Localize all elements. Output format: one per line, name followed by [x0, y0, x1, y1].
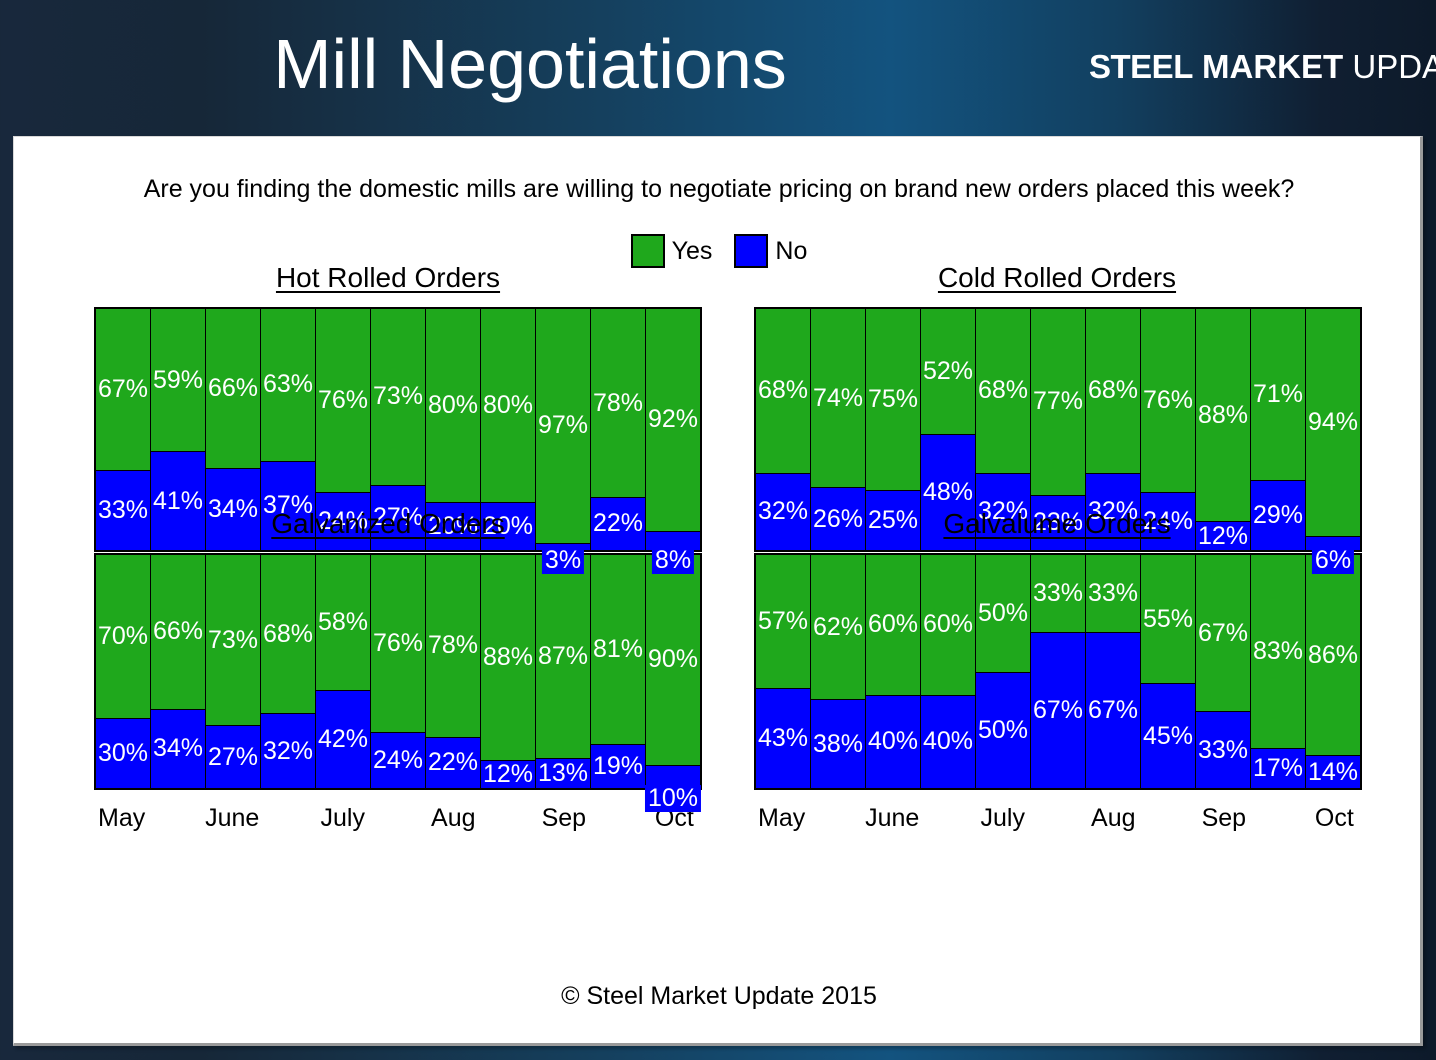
bar-segment-yes: 60% [921, 555, 975, 695]
bar-segment-no: 45% [1141, 683, 1195, 788]
bar-value-yes: 80% [483, 393, 533, 418]
bar-segment-yes: 78% [591, 309, 645, 497]
bar-segment-yes: 94% [1306, 309, 1360, 536]
stacked-bar: 60%40% [865, 555, 921, 788]
chart-title-galvalume: Galvalume Orders [732, 505, 1382, 543]
bar-value-yes: 71% [1253, 382, 1303, 407]
stacked-bar: 62%38% [810, 555, 866, 788]
bar-segment-yes: 77% [1031, 309, 1085, 495]
bar-segment-yes: 88% [1196, 309, 1250, 521]
bar-segment-yes: 87% [536, 555, 590, 758]
stacked-bar: 87%13% [535, 555, 591, 788]
bar-value-no: 34% [153, 736, 203, 761]
stacked-bar: 33%67% [1085, 555, 1141, 788]
bar-segment-yes: 80% [426, 309, 480, 502]
bar-value-no: 27% [208, 745, 258, 770]
chart-title-cold-rolled: Cold Rolled Orders [732, 259, 1382, 297]
stacked-bar: 50%50% [975, 555, 1031, 788]
bar-segment-yes: 66% [206, 309, 260, 468]
bar-value-yes: 76% [1143, 388, 1193, 413]
x-axis-tick-label: July [320, 802, 364, 834]
bar-value-yes: 77% [1033, 389, 1083, 414]
bar-value-no: 13% [538, 761, 588, 786]
logo-word-update: UPDATE [1352, 48, 1436, 85]
bar-value-yes: 83% [1253, 639, 1303, 664]
bar-value-yes: 76% [373, 631, 423, 656]
bar-value-yes: 78% [428, 633, 478, 658]
bar-segment-yes: 63% [261, 309, 315, 461]
stacked-bar: 70%30% [96, 555, 151, 788]
bar-value-yes: 67% [1198, 621, 1248, 646]
bar-value-yes: 81% [593, 637, 643, 662]
bar-segment-yes: 57% [756, 555, 810, 688]
bar-value-no: 40% [868, 729, 918, 754]
bar-value-yes: 74% [813, 386, 863, 411]
bar-value-no: 12% [483, 762, 533, 787]
bar-value-no: 22% [428, 750, 478, 775]
bar-segment-yes: 59% [151, 309, 205, 451]
bar-value-yes: 75% [868, 387, 918, 412]
bar-value-no: 43% [758, 726, 808, 751]
stacked-bar: 76%24% [370, 555, 426, 788]
bar-value-yes: 66% [153, 619, 203, 644]
steel-market-update-logo: STEEL MARKET UPDATE [1085, 12, 1433, 120]
bar-value-no: 48% [923, 480, 973, 505]
logo-word-steel: STEEL [1089, 48, 1193, 85]
bar-segment-no: 10% [646, 765, 700, 788]
bar-value-yes: 97% [538, 413, 588, 438]
bar-segment-yes: 74% [811, 309, 865, 487]
chart-panel-galvalume: Galvalume Orders 57%43%62%38%60%40%60%40… [732, 505, 1382, 855]
bar-segment-no: 40% [921, 695, 975, 788]
stacked-bar: 68%32% [260, 555, 316, 788]
x-axis-tick-label: Aug [431, 802, 475, 834]
bar-value-yes: 94% [1308, 410, 1358, 435]
bar-value-no: 19% [593, 754, 643, 779]
x-axis-tick-label: May [98, 802, 145, 834]
bar-segment-no: 17% [1251, 748, 1305, 788]
logo-wordmark: STEEL MARKET UPDATE [1089, 50, 1433, 83]
bar-segment-yes: 88% [481, 555, 535, 760]
bar-segment-no: 34% [151, 709, 205, 788]
bar-value-yes: 88% [1198, 403, 1248, 428]
bar-segment-no: 67% [1031, 632, 1085, 788]
bar-value-yes: 57% [758, 609, 808, 634]
bar-value-yes: 62% [813, 615, 863, 640]
bar-value-yes: 66% [208, 376, 258, 401]
bar-value-yes: 67% [98, 377, 148, 402]
bar-value-yes: 55% [1143, 607, 1193, 632]
plot-area-galvanized: 70%30%66%34%73%27%68%32%58%42%76%24%78%2… [94, 553, 702, 790]
chart-title-hot-rolled: Hot Rolled Orders [72, 259, 704, 297]
stacked-bar: 78%22% [425, 555, 481, 788]
bar-segment-yes: 73% [206, 555, 260, 725]
bar-segment-yes: 78% [426, 555, 480, 737]
bar-segment-yes: 76% [371, 555, 425, 732]
bar-value-no: 67% [1088, 698, 1138, 723]
bar-value-no: 10% [645, 785, 701, 812]
slide-header: Mill Negotiations STEEL MARKET UPDATE [0, 0, 1436, 133]
bar-value-yes: 87% [538, 644, 588, 669]
bar-value-yes: 73% [373, 384, 423, 409]
bar-value-no: 30% [98, 741, 148, 766]
bar-value-yes: 86% [1308, 643, 1358, 668]
bar-value-yes: 90% [648, 647, 698, 672]
x-axis-galvalume: MayJuneJulyAugSepOct [732, 802, 1382, 834]
bar-segment-no: 43% [756, 688, 810, 788]
stacked-bar: 73%27% [205, 555, 261, 788]
bar-value-yes: 33% [1088, 581, 1138, 606]
bar-segment-yes: 75% [866, 309, 920, 490]
bar-value-no: 40% [923, 729, 973, 754]
bar-segment-no: 30% [96, 718, 150, 788]
survey-question: Are you finding the domestic mills are w… [14, 175, 1424, 204]
bar-segment-yes: 73% [371, 309, 425, 485]
stacked-bar: 86%14% [1305, 555, 1360, 788]
bar-value-yes: 80% [428, 393, 478, 418]
stacked-bar: 88%12% [480, 555, 536, 788]
bar-segment-yes: 67% [1196, 555, 1250, 711]
bar-segment-yes: 76% [316, 309, 370, 492]
bar-value-no: 67% [1033, 698, 1083, 723]
bar-segment-no: 14% [1306, 755, 1360, 788]
bar-segment-yes: 68% [976, 309, 1030, 473]
bar-value-no: 17% [1253, 756, 1303, 781]
bar-segment-no: 19% [591, 744, 645, 788]
bar-value-yes: 52% [923, 359, 973, 384]
bar-value-yes: 68% [1088, 378, 1138, 403]
bar-value-no: 24% [373, 748, 423, 773]
bar-value-yes: 68% [758, 378, 808, 403]
bar-value-no: 6% [1312, 547, 1354, 574]
x-axis-tick-label: Sep [1202, 802, 1246, 834]
bar-value-yes: 33% [1033, 581, 1083, 606]
copyright-notice: © Steel Market Update 2015 [14, 982, 1424, 1011]
x-axis-tick-label: Aug [1091, 802, 1135, 834]
stacked-bar: 90%10% [645, 555, 700, 788]
bar-segment-yes: 50% [976, 555, 1030, 672]
bar-value-no: 33% [1198, 738, 1248, 763]
bar-segment-no: 27% [206, 725, 260, 788]
bar-value-yes: 73% [208, 628, 258, 653]
bar-segment-yes: 67% [96, 309, 150, 470]
stacked-bar: 67%33% [1195, 555, 1251, 788]
bar-value-yes: 70% [98, 624, 148, 649]
bar-value-no: 32% [263, 739, 313, 764]
bar-segment-yes: 62% [811, 555, 865, 699]
bar-group-galvalume: 57%43%62%38%60%40%60%40%50%50%33%67%33%6… [756, 555, 1360, 788]
bar-segment-no: 22% [426, 737, 480, 788]
bar-value-yes: 78% [593, 391, 643, 416]
bar-segment-yes: 76% [1141, 309, 1195, 492]
bar-segment-yes: 81% [591, 555, 645, 744]
bar-segment-no: 13% [536, 758, 590, 788]
stacked-bar: 55%45% [1140, 555, 1196, 788]
bar-value-yes: 60% [868, 612, 918, 637]
bar-value-yes: 68% [978, 378, 1028, 403]
bar-segment-no: 38% [811, 699, 865, 788]
x-axis-tick-label: Oct [1315, 802, 1354, 834]
stacked-bar: 33%67% [1030, 555, 1086, 788]
bar-value-no: 3% [542, 547, 584, 574]
bar-segment-no: 33% [1196, 711, 1250, 788]
stacked-bar: 81%19% [590, 555, 646, 788]
page-title: Mill Negotiations [0, 20, 1060, 108]
bar-segment-yes: 66% [151, 555, 205, 709]
x-axis-tick-label: May [758, 802, 805, 834]
bar-segment-no: 67% [1086, 632, 1140, 788]
bar-segment-no: 12% [481, 760, 535, 788]
bar-segment-no: 42% [316, 690, 370, 788]
bar-segment-yes: 33% [1031, 555, 1085, 632]
bar-value-no: 14% [1308, 760, 1358, 785]
bar-segment-yes: 86% [1306, 555, 1360, 755]
bar-value-no: 45% [1143, 724, 1193, 749]
bar-segment-no: 32% [261, 713, 315, 788]
bar-segment-yes: 55% [1141, 555, 1195, 683]
plot-area-galvalume: 57%43%62%38%60%40%60%40%50%50%33%67%33%6… [754, 553, 1362, 790]
x-axis-galvanized: MayJuneJulyAugSepOct [72, 802, 704, 834]
bar-value-yes: 76% [318, 388, 368, 413]
bar-segment-yes: 90% [646, 555, 700, 765]
stacked-bar: 57%43% [756, 555, 811, 788]
stacked-bar: 60%40% [920, 555, 976, 788]
bar-value-yes: 58% [318, 610, 368, 635]
bar-value-yes: 92% [648, 407, 698, 432]
logo-word-market: MARKET [1202, 48, 1343, 85]
bar-segment-yes: 58% [316, 555, 370, 690]
bar-value-yes: 59% [153, 368, 203, 393]
bar-segment-yes: 33% [1086, 555, 1140, 632]
chart-title-galvanized: Galvanized Orders [72, 505, 704, 543]
bar-segment-yes: 68% [756, 309, 810, 473]
bar-value-yes: 63% [263, 372, 313, 397]
bar-value-no: 38% [813, 732, 863, 757]
bar-segment-no: 40% [866, 695, 920, 788]
bar-value-no: 42% [318, 727, 368, 752]
bar-value-yes: 50% [978, 601, 1028, 626]
bar-segment-yes: 52% [921, 309, 975, 434]
x-axis-tick-label: June [205, 802, 259, 834]
bar-value-yes: 68% [263, 622, 313, 647]
bar-segment-yes: 68% [261, 555, 315, 713]
bar-segment-yes: 71% [1251, 309, 1305, 480]
bar-value-yes: 88% [483, 645, 533, 670]
bar-segment-yes: 92% [646, 309, 700, 531]
bar-segment-yes: 70% [96, 555, 150, 718]
bar-value-no: 8% [652, 547, 694, 574]
bar-segment-yes: 80% [481, 309, 535, 502]
bar-segment-no: 24% [371, 732, 425, 788]
stacked-bar: 83%17% [1250, 555, 1306, 788]
x-axis-tick-label: July [980, 802, 1024, 834]
stacked-bar: 58%42% [315, 555, 371, 788]
bar-segment-no: 50% [976, 672, 1030, 789]
bar-segment-yes: 83% [1251, 555, 1305, 748]
bar-segment-yes: 68% [1086, 309, 1140, 473]
x-axis-tick-label: Sep [542, 802, 586, 834]
x-axis-tick-label: June [865, 802, 919, 834]
bar-group-galvanized: 70%30%66%34%73%27%68%32%58%42%76%24%78%2… [96, 555, 700, 788]
bar-value-no: 50% [978, 718, 1028, 743]
chart-panel-galvanized: Galvanized Orders 70%30%66%34%73%27%68%3… [72, 505, 704, 855]
bar-value-yes: 60% [923, 612, 973, 637]
bar-segment-yes: 60% [866, 555, 920, 695]
stacked-bar: 66%34% [150, 555, 206, 788]
slide-content-panel: Are you finding the domestic mills are w… [13, 136, 1423, 1046]
